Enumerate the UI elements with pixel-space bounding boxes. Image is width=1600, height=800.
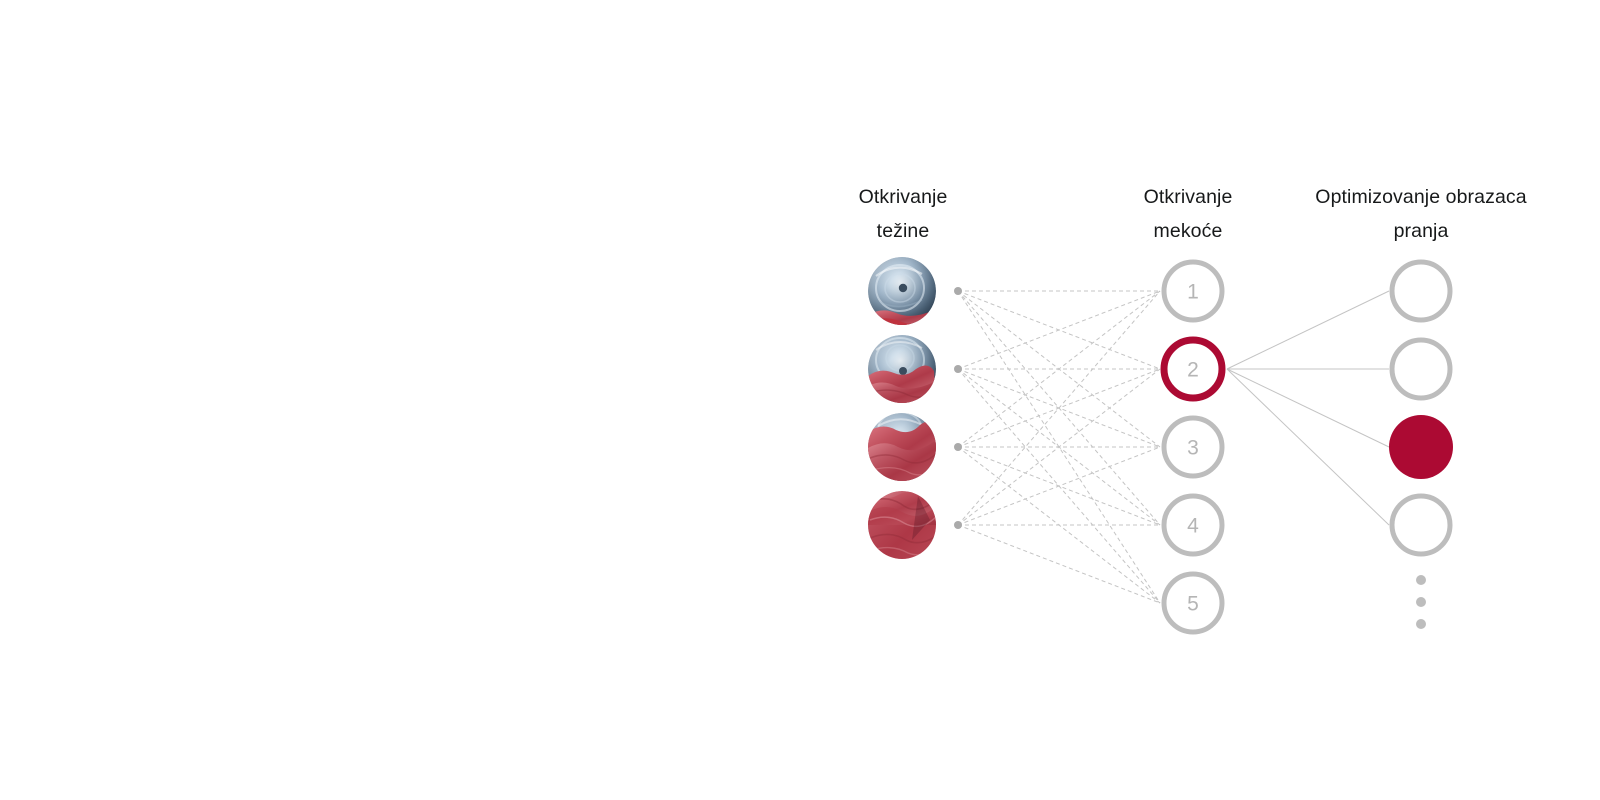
column-label-wash-pattern-optimization: Optimizovanje obrazaca pranja bbox=[1275, 181, 1567, 248]
input-node-3[interactable] bbox=[868, 412, 940, 482]
diagram-canvas: 1 2 3 4 5 bbox=[0, 0, 1600, 800]
connector-dot bbox=[954, 287, 962, 295]
hidden-node-1[interactable]: 1 bbox=[1164, 262, 1222, 320]
input-node-1[interactable] bbox=[868, 257, 936, 330]
connector-dot bbox=[954, 443, 962, 451]
hidden-node-3-label: 3 bbox=[1187, 437, 1199, 460]
connector-dot bbox=[954, 521, 962, 529]
hidden-node-4[interactable]: 4 bbox=[1164, 496, 1222, 554]
network-graph: 1 2 3 4 5 bbox=[0, 0, 1600, 800]
ellipsis-dot bbox=[1416, 619, 1426, 629]
ellipsis-dot bbox=[1416, 597, 1426, 607]
hidden-node-1-label: 1 bbox=[1187, 281, 1199, 304]
connector-dots bbox=[954, 287, 962, 529]
hidden-node-3[interactable]: 3 bbox=[1164, 418, 1222, 476]
output-node-1[interactable] bbox=[1392, 262, 1450, 320]
hidden-node-5-label: 5 bbox=[1187, 593, 1199, 616]
hidden-node-4-label: 4 bbox=[1187, 515, 1199, 538]
hidden-node-2-label: 2 bbox=[1187, 359, 1199, 382]
edges-input-to-hidden bbox=[958, 291, 1160, 603]
connector-dot bbox=[954, 365, 962, 373]
ellipsis-dot bbox=[1416, 575, 1426, 585]
column-label-softness-detection: Otkrivanje mekoće bbox=[1090, 181, 1286, 248]
output-node-3[interactable] bbox=[1389, 415, 1453, 479]
hidden-node-2[interactable]: 2 bbox=[1164, 340, 1222, 398]
edges-hidden-to-output bbox=[1227, 291, 1389, 525]
output-node-2[interactable] bbox=[1392, 340, 1450, 398]
column-label-weight-detection: Otkrivanje težine bbox=[805, 181, 1001, 248]
input-node-2[interactable] bbox=[868, 335, 936, 403]
hidden-node-5[interactable]: 5 bbox=[1164, 574, 1222, 632]
input-node-4[interactable] bbox=[868, 491, 936, 559]
output-ellipsis-dots bbox=[1416, 575, 1426, 629]
output-node-4[interactable] bbox=[1392, 496, 1450, 554]
